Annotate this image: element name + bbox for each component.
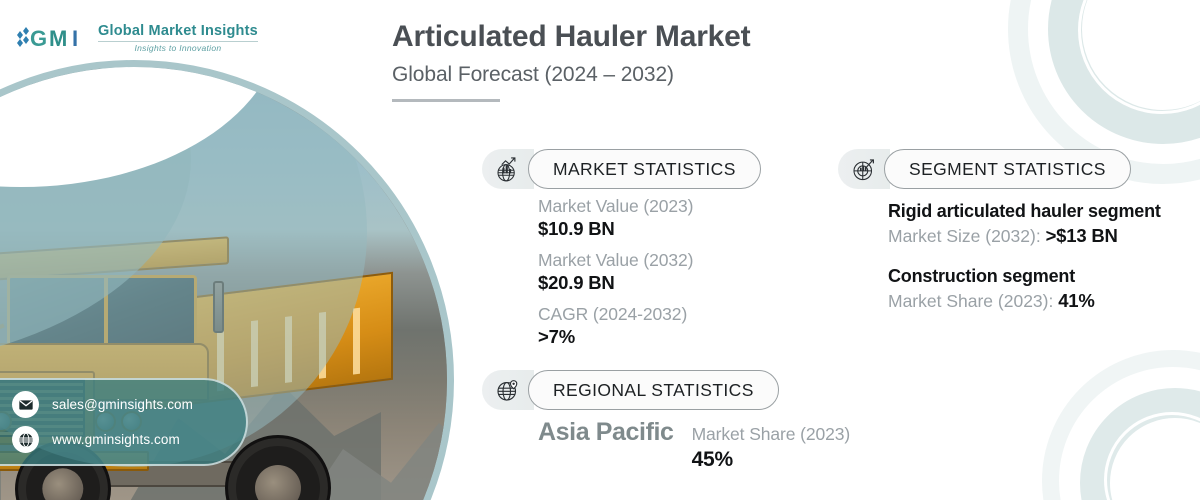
gmi-logo[interactable]: G M I Global Market Insights Insights to… (14, 20, 258, 56)
regional-statistics-label: REGIONAL STATISTICS (553, 380, 754, 401)
envelope-icon (12, 391, 39, 418)
infographic-canvas: sales@gminsights.com www.gminsights.com (0, 0, 1200, 500)
svg-text:M: M (49, 26, 67, 51)
target-chart-icon (838, 149, 890, 189)
contact-email-row[interactable]: sales@gminsights.com (12, 391, 230, 418)
market-stat-row: Market Value (2023) $10.9 BN (538, 196, 693, 240)
title-underline (392, 99, 500, 102)
globe-chart-icon (482, 149, 534, 189)
segment-statistics-body: Rigid articulated hauler segment Market … (888, 200, 1188, 312)
market-statistics-header: MARKET STATISTICS (482, 149, 761, 189)
region-metric-value: 45% (692, 448, 851, 472)
market-stat-label: Market Value (2032) (538, 250, 693, 271)
page-title: Articulated Hauler Market (392, 20, 750, 54)
decorative-ring-bottom-right-inner (1080, 388, 1200, 500)
segment-item-title: Construction segment (888, 265, 1188, 288)
market-stat-value: >7% (538, 326, 693, 348)
segment-item-title: Rigid articulated hauler segment (888, 200, 1188, 223)
market-stat-value: $10.9 BN (538, 218, 693, 240)
gmi-logo-text: Global Market Insights Insights to Innov… (98, 23, 258, 53)
segment-statistics-header: SEGMENT STATISTICS (838, 149, 1131, 189)
contact-email: sales@gminsights.com (52, 397, 193, 412)
market-stat-label: Market Value (2023) (538, 196, 693, 217)
svg-text:G: G (30, 26, 47, 51)
region-name: Asia Pacific (538, 420, 674, 446)
market-stat-label: CAGR (2024-2032) (538, 304, 693, 325)
globe-icon (12, 426, 39, 453)
company-tagline: Insights to Innovation (98, 43, 258, 53)
segment-item-metric: Market Size (2032): >$13 BN (888, 225, 1188, 247)
contact-pill: sales@gminsights.com www.gminsights.com (0, 378, 248, 466)
page-subtitle: Global Forecast (2024 – 2032) (392, 63, 750, 87)
company-name: Global Market Insights (98, 23, 258, 39)
market-statistics-body: Market Value (2023) $10.9 BN Market Valu… (538, 196, 693, 358)
decorative-ring-bottom-right-hairline (1104, 412, 1200, 500)
decorative-ring-top-right-inner (1048, 0, 1200, 144)
market-stat-row: CAGR (2024-2032) >7% (538, 304, 693, 348)
logo-divider (98, 41, 258, 42)
regional-statistics-body: Asia Pacific Market Share (2023) 45% (538, 420, 850, 472)
decorative-ring-top-right-hairline (1078, 0, 1200, 114)
region-metric-label: Market Share (2023) (692, 424, 851, 445)
regional-statistics-header: REGIONAL STATISTICS (482, 370, 779, 410)
title-block: Articulated Hauler Market Global Forecas… (392, 20, 750, 102)
gmi-logo-mark: G M I (14, 20, 90, 56)
regional-statistics-pill: REGIONAL STATISTICS (528, 370, 779, 410)
market-stat-value: $20.9 BN (538, 272, 693, 294)
segment-item: Rigid articulated hauler segment Market … (888, 200, 1188, 247)
segment-item-metric-label: Market Size (2032): (888, 226, 1046, 246)
market-statistics-pill: MARKET STATISTICS (528, 149, 761, 189)
segment-item-metric-value: >$13 BN (1046, 225, 1118, 246)
market-stat-row: Market Value (2032) $20.9 BN (538, 250, 693, 294)
segment-item: Construction segment Market Share (2023)… (888, 265, 1188, 312)
segment-spacer (888, 247, 1188, 265)
segment-statistics-pill: SEGMENT STATISTICS (884, 149, 1131, 189)
segment-item-metric: Market Share (2023): 41% (888, 290, 1188, 312)
globe-pin-icon (482, 370, 534, 410)
region-metric: Market Share (2023) 45% (692, 420, 851, 472)
contact-website-row[interactable]: www.gminsights.com (12, 426, 230, 453)
contact-website: www.gminsights.com (52, 432, 180, 447)
segment-item-metric-label: Market Share (2023): (888, 291, 1058, 311)
segment-statistics-label: SEGMENT STATISTICS (909, 159, 1106, 180)
market-statistics-label: MARKET STATISTICS (553, 159, 736, 180)
svg-text:I: I (72, 26, 78, 51)
decorative-ring-bottom-right-outer (1042, 350, 1200, 500)
segment-item-metric-value: 41% (1058, 290, 1094, 311)
